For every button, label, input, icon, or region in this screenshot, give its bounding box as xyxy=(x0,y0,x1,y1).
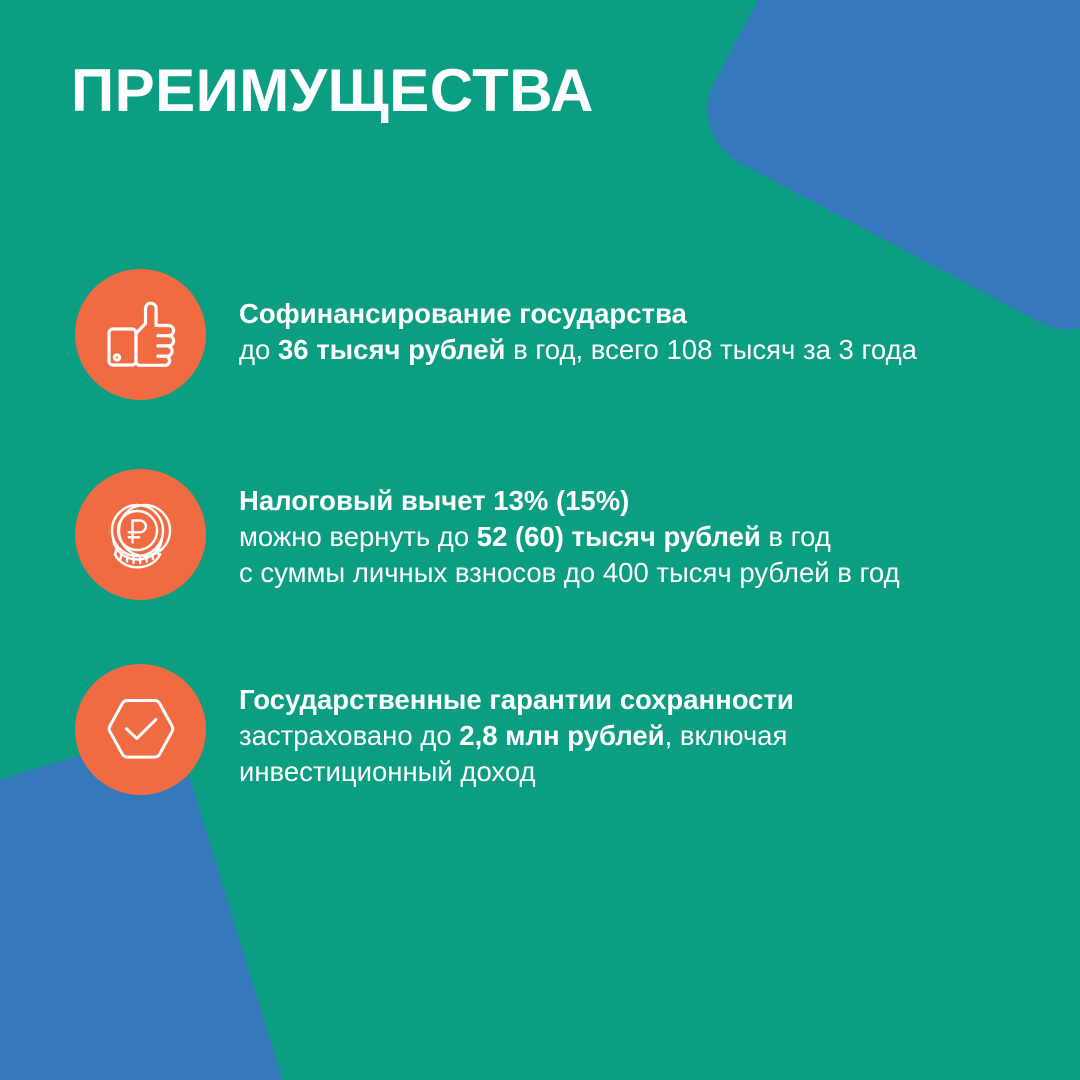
benefit-line: с суммы личных взносов до 400 тысяч рубл… xyxy=(239,555,1080,591)
benefit-line: инвестиционный доход xyxy=(239,754,1080,790)
benefit-line: застраховано до 2,8 млн рублей, включая xyxy=(239,718,1080,754)
benefit-text-run: с суммы личных взносов до 400 тысяч рубл… xyxy=(239,557,900,588)
benefit-text-run: инвестиционный доход xyxy=(239,756,536,787)
ruble-coin-icon xyxy=(102,496,180,574)
benefit-icon-badge xyxy=(75,664,206,795)
benefit-text-run: в год, всего 108 тысяч за 3 года xyxy=(505,334,916,365)
benefit-text-run: можно вернуть до xyxy=(239,521,477,552)
benefit-lines: до 36 тысяч рублей в год, всего 108 тыся… xyxy=(239,332,1080,368)
page-title: ПРЕИМУЩЕСТВА xyxy=(71,57,594,125)
infographic-slide: ПРЕИМУЩЕСТВА xyxy=(0,0,1080,1080)
benefit-item-cofinancing: Софинансирование государства до 36 тысяч… xyxy=(0,269,1080,400)
benefit-text-run: до xyxy=(239,334,278,365)
benefit-heading: Государственные гарантии сохранности xyxy=(239,682,1080,718)
benefit-item-tax-deduction: Налоговый вычет 13% (15%) можно вернуть … xyxy=(0,469,1080,600)
benefit-text-run: , включая xyxy=(665,720,788,751)
benefit-text: Государственные гарантии сохранности зас… xyxy=(206,664,1080,790)
benefit-lines: застраховано до 2,8 млн рублей, включаяи… xyxy=(239,718,1080,790)
benefit-item-state-guarantees: Государственные гарантии сохранности зас… xyxy=(0,664,1080,795)
benefit-text-run: в год xyxy=(761,521,831,552)
benefit-line: до 36 тысяч рублей в год, всего 108 тыся… xyxy=(239,332,1080,368)
benefit-text-run: застраховано до xyxy=(239,720,459,751)
benefit-highlight: 2,8 млн рублей xyxy=(459,720,664,751)
benefit-lines: можно вернуть до 52 (60) тысяч рублей в … xyxy=(239,519,1080,591)
benefit-text: Налоговый вычет 13% (15%) можно вернуть … xyxy=(206,469,1080,591)
benefit-text: Софинансирование государства до 36 тысяч… xyxy=(206,269,1080,368)
benefit-icon-badge xyxy=(75,269,206,400)
benefit-heading: Софинансирование государства xyxy=(239,296,1080,332)
benefit-highlight: 52 (60) тысяч рублей xyxy=(477,521,761,552)
thumbs-up-icon xyxy=(101,295,181,375)
hexagon-check-icon xyxy=(102,691,180,769)
benefit-heading: Налоговый вычет 13% (15%) xyxy=(239,483,1080,519)
benefit-highlight: 36 тысяч рублей xyxy=(278,334,505,365)
benefit-line: можно вернуть до 52 (60) тысяч рублей в … xyxy=(239,519,1080,555)
benefits-list: Софинансирование государства до 36 тысяч… xyxy=(0,269,1080,795)
benefit-icon-badge xyxy=(75,469,206,600)
